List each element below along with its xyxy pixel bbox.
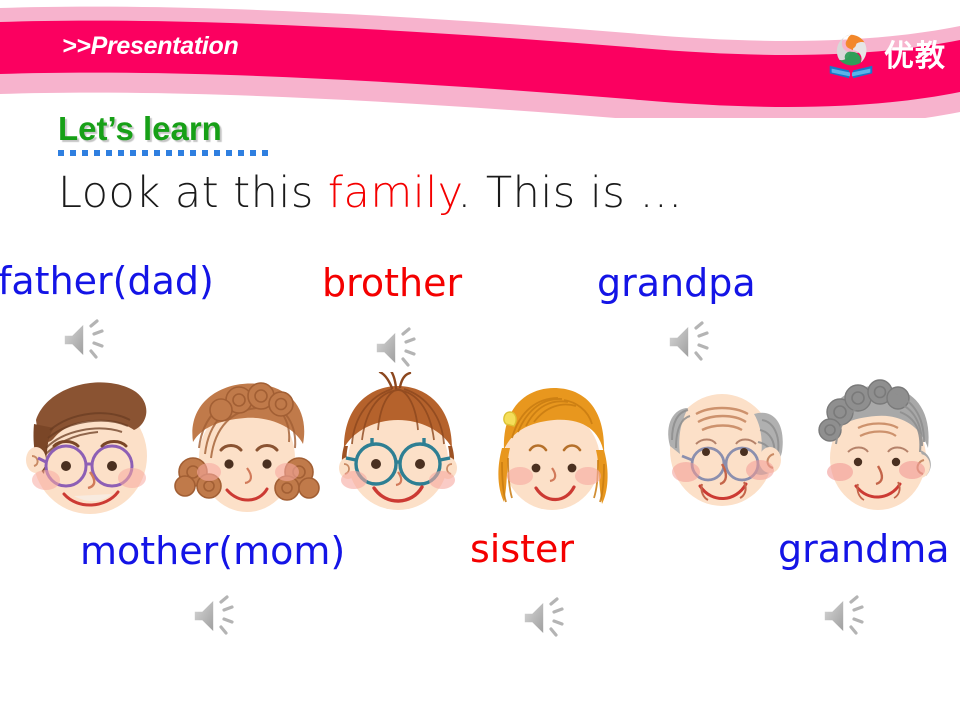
grandma-face-icon (800, 372, 950, 520)
swirl-book-logo-icon (822, 28, 880, 86)
face-grandma[interactable] (800, 372, 950, 520)
speaker-icon-father[interactable] (60, 316, 116, 364)
section-heading-underline (58, 150, 270, 156)
logo-wordmark: 优教 (884, 42, 946, 72)
face-father[interactable] (2, 368, 177, 518)
speaker-icon (665, 318, 721, 366)
label-grandma: grandma (778, 530, 950, 568)
sentence-part2: . This is … (458, 168, 683, 218)
speaker-icon (60, 316, 116, 364)
sister-face-icon (482, 378, 624, 518)
grandpa-face-icon (650, 368, 802, 518)
face-sister[interactable] (482, 378, 624, 518)
speaker-icon (520, 594, 576, 642)
label-mother: mother(mom) (80, 532, 345, 570)
speaker-icon (820, 592, 876, 640)
speaker-icon-brother[interactable] (372, 324, 428, 372)
face-mother[interactable] (163, 372, 328, 520)
father-face-icon (2, 368, 177, 518)
sentence-highlight-family: family (328, 168, 458, 218)
mother-face-icon (163, 372, 328, 520)
speaker-icon-grandma[interactable] (820, 592, 876, 640)
label-sister: sister (470, 530, 574, 568)
speaker-icon (372, 324, 428, 372)
label-grandpa: grandpa (597, 264, 756, 302)
main-sentence: Look at this family. This is … (58, 168, 683, 218)
label-father: father(dad) (0, 262, 214, 300)
page-title: >>Presentation (62, 32, 238, 61)
brother-face-icon (322, 372, 474, 517)
section-heading: Let’s learn (58, 112, 270, 145)
lets-learn-block: Let’s learn (58, 112, 270, 156)
label-brother: brother (322, 264, 462, 302)
speaker-icon-sister[interactable] (520, 594, 576, 642)
brand-logo: 优教 (822, 26, 950, 88)
sentence-part1: Look at this (58, 168, 328, 218)
face-brother[interactable] (322, 372, 474, 517)
speaker-icon-mother[interactable] (190, 592, 246, 640)
face-grandpa[interactable] (650, 368, 802, 518)
speaker-icon-grandpa[interactable] (665, 318, 721, 366)
speaker-icon (190, 592, 246, 640)
